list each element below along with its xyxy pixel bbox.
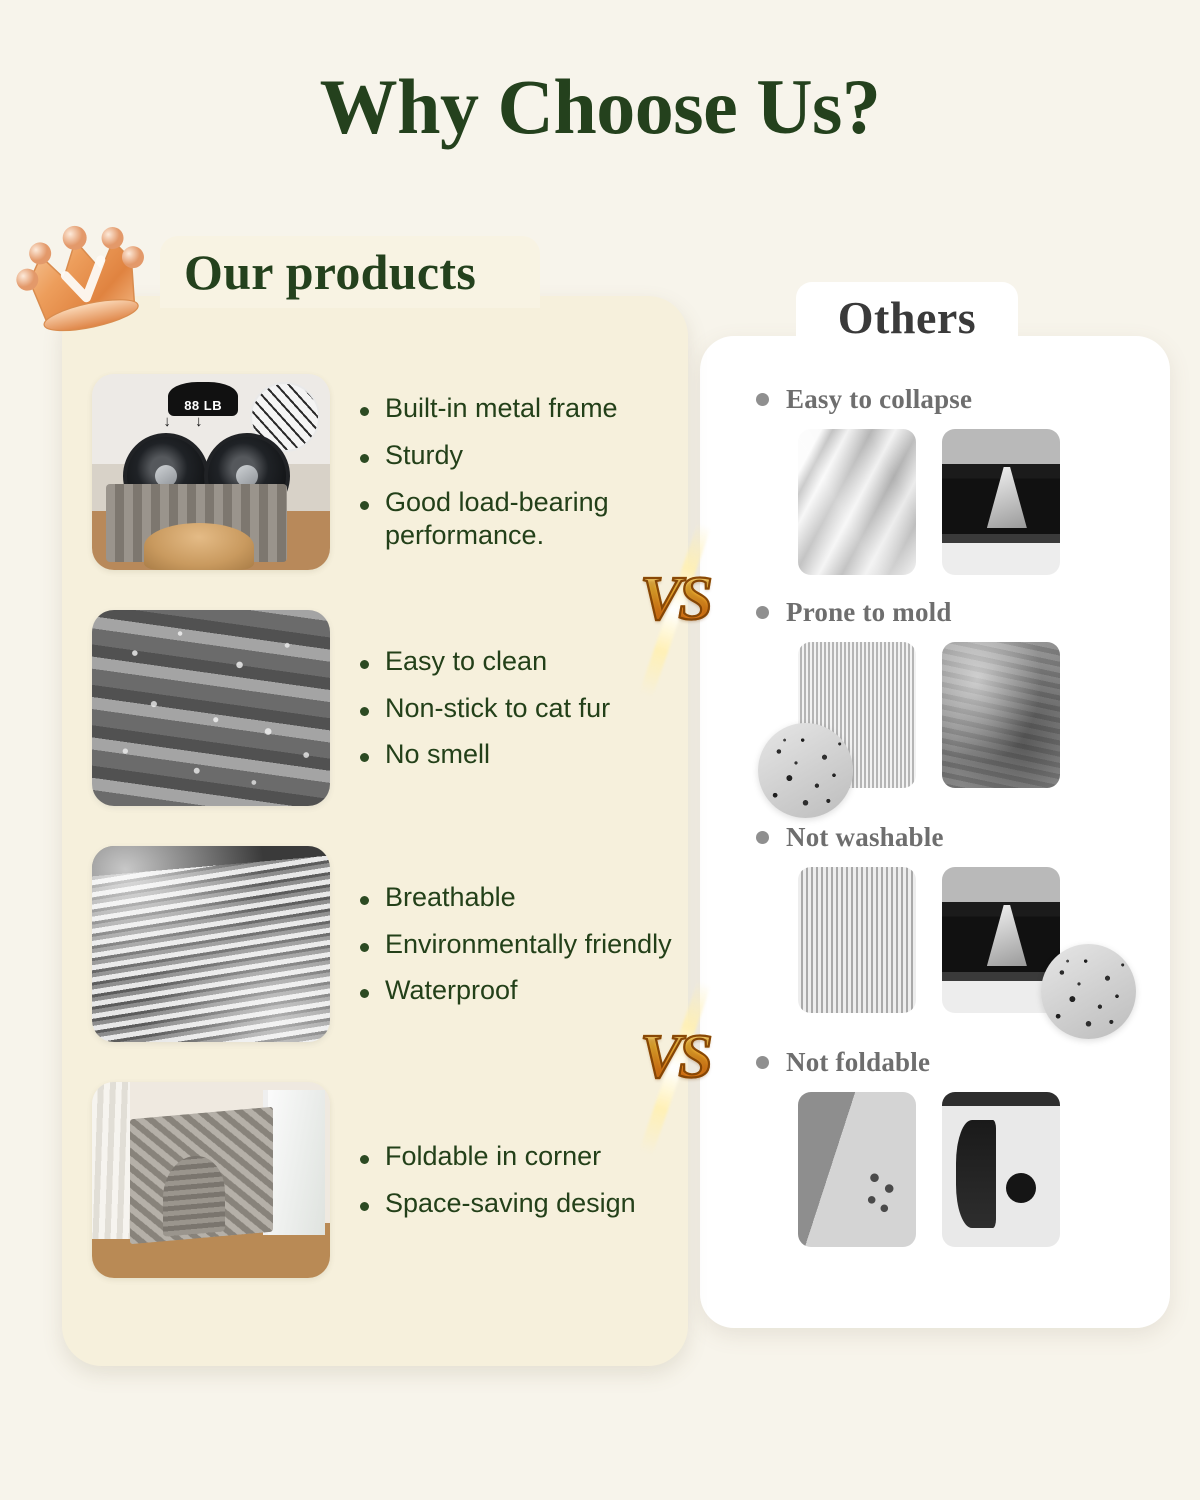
others-block-label: Easy to collapse [786,384,972,415]
cat [144,523,253,570]
list-item: Environmentally friendly [360,928,688,961]
bullet-text: Environmentally friendly [385,928,672,961]
bullet-text: Sturdy [385,439,463,472]
others-block-label: Not foldable [786,1047,930,1078]
down-arrows-icon: ↓ ↓ ↓ [163,413,241,435]
others-block-collapse: Easy to collapse [700,384,1170,575]
list-item: Breathable [360,881,688,914]
product-row: 88 LB ↓ ↓ ↓ Built-in metal frame Sturdy [62,354,688,590]
list-item: Sturdy [360,439,688,472]
vs-label: VS [620,564,730,635]
bullet-text: No smell [385,738,490,771]
bullet-dot-icon [360,896,369,905]
bullet-dot-icon [756,393,769,406]
our-products-rows: 88 LB ↓ ↓ ↓ Built-in metal frame Sturdy [62,296,688,1366]
wet-wicker-texture-photo [92,610,330,806]
bullet-dot-icon [756,1056,769,1069]
bullet-dot-icon [360,501,369,510]
bullet-dot-icon [360,753,369,762]
bullet-dot-icon [360,989,369,998]
bullet-text: Easy to clean [385,645,547,678]
collapsed-tent-photo [942,429,1060,575]
product-row: Breathable Environmentally friendly Wate… [62,826,688,1062]
list-item: Space-saving design [360,1187,688,1220]
infographic-page: Why Choose Us? Others Easy to collapse P… [0,0,1200,1500]
others-heading: Not washable [700,822,1170,853]
others-photo-pair [700,642,1170,788]
bullet-text: Breathable [385,881,516,914]
bullet-dot-icon [360,943,369,952]
bullet-dot-icon [360,1155,369,1164]
vs-label: VS [620,1022,730,1093]
bullet-text: Built-in metal frame [385,392,618,425]
bullet-dot-icon [360,407,369,416]
list-item: Built-in metal frame [360,392,688,425]
rigid-cube-box-photo [798,1092,916,1247]
bullet-text: Foldable in corner [385,1140,601,1173]
list-item: No smell [360,738,688,771]
folded-litter-box-photo [92,1082,330,1278]
bullet-text: Space-saving design [385,1187,636,1220]
curtain [92,1082,130,1239]
weight-badge: 88 LB [168,382,238,416]
grimy-surface-photo [942,642,1060,788]
vs-badge-top: VS [620,520,730,700]
others-photo-pair [700,867,1170,1013]
others-block-foldable: Not foldable [700,1047,1170,1247]
others-heading: Prone to mold [700,597,1170,628]
steam-through-wicker-photo [92,846,330,1042]
bullet-dot-icon [360,454,369,463]
others-block-label: Not washable [786,822,944,853]
bullet-dot-icon [756,831,769,844]
weights-in-basket-photo: 88 LB ↓ ↓ ↓ [92,374,330,570]
product-row: Foldable in corner Space-saving design [62,1062,688,1298]
vs-badge-bottom: VS [620,978,730,1158]
others-heading: Not foldable [700,1047,1170,1078]
others-photo-pair [700,429,1170,575]
rigid-bin-photo [942,1092,1060,1247]
bullet-dot-icon [360,707,369,716]
bullet-text: Non-stick to cat fur [385,692,610,725]
bullet-dot-icon [756,606,769,619]
others-photo-pair [700,1092,1170,1247]
others-block-label: Prone to mold [786,597,952,628]
bullet-dot-icon [360,660,369,669]
mold-speckle-circle-icon [758,723,853,818]
collapsed-cover-photo [798,429,916,575]
mold-speckle-circle-icon [1041,944,1136,1039]
ribbed-fabric-photo-2 [798,867,916,1013]
others-content: Easy to collapse Prone to mold Not washa… [700,336,1170,1328]
others-block-washable: Not washable [700,822,1170,1013]
bullet-text: Waterproof [385,974,518,1007]
others-heading: Easy to collapse [700,384,1170,415]
bullet-dot-icon [360,1202,369,1211]
our-products-tab-label: Our products [184,243,476,301]
page-title: Why Choose Us? [0,62,1200,152]
others-block-mold: Prone to mold [700,597,1170,788]
product-row: Easy to clean Non-stick to cat fur No sm… [62,590,688,826]
